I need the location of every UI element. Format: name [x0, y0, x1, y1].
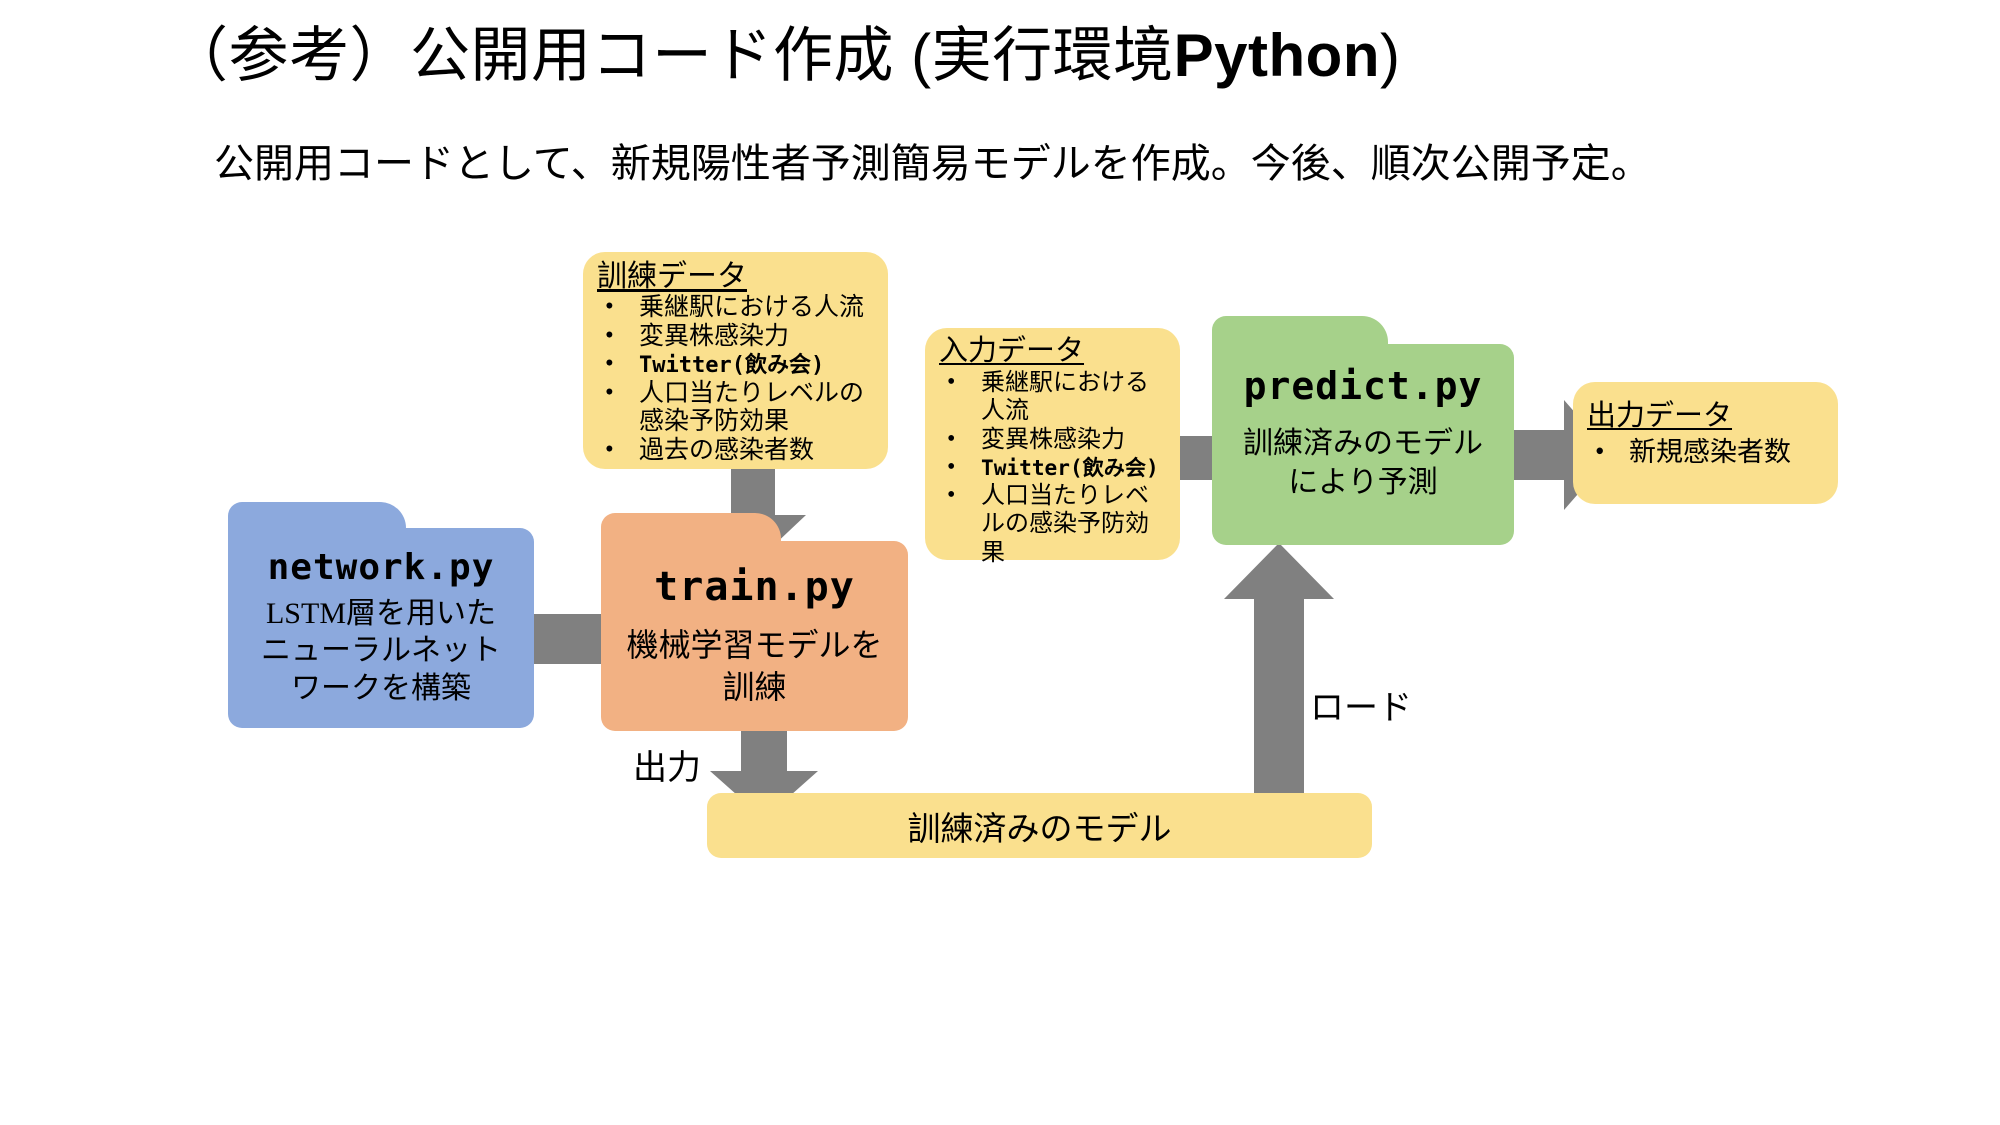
trained-model-bar: 訓練済みのモデル: [707, 793, 1372, 858]
output-data-box: 出力データ 新規感染者数: [1573, 382, 1838, 504]
list-item: 過去の感染者数: [597, 437, 878, 466]
arrow-trained-model-to-predict: [1224, 543, 1334, 801]
slide-canvas: （参考）公開用コード作成 (実行環境Python) 公開用コードとして、新規陽性…: [0, 0, 2000, 1125]
edge-label-output: 出力: [633, 740, 701, 789]
input-data-title: 入力データ: [939, 336, 1170, 368]
page-title-bold: Python: [1174, 22, 1380, 89]
predict-py-description: 訓練済みのモデル により予測: [1212, 424, 1514, 502]
training-data-list: 乗継駅における人流 変異株感染力 Twitter(飲み会) 人口当たりレベルの感…: [597, 294, 878, 465]
list-item: 変異株感染力: [597, 323, 878, 352]
network-py-node: network.py LSTM層を用いた ニューラルネット ワークを構築: [228, 502, 534, 728]
predict-py-content: predict.py 訓練済みのモデル により予測: [1212, 364, 1514, 502]
predict-py-node: predict.py 訓練済みのモデル により予測: [1212, 316, 1514, 545]
edge-label-load: ロード: [1310, 680, 1412, 729]
input-data-list: 乗継駅における人流 変異株感染力 Twitter(飲み会) 人口当たりレベルの感…: [939, 369, 1170, 567]
output-data-title: 出力データ: [1587, 400, 1828, 433]
list-item: 乗継駅における人流: [597, 294, 878, 323]
page-subtitle: 公開用コードとして、新規陽性者予測簡易モデルを作成。今後、順次公開予定。: [214, 140, 1914, 188]
network-py-filename: network.py: [228, 546, 534, 589]
train-py-node: train.py 機械学習モデルを 訓練: [601, 513, 908, 731]
list-item: 変異株感染力: [939, 426, 1170, 454]
page-title-prefix: （参考）公開用コード作成 (実行環境: [168, 22, 1174, 89]
predict-py-filename: predict.py: [1212, 364, 1514, 410]
training-data-title: 訓練データ: [597, 260, 878, 293]
train-py-content: train.py 機械学習モデルを 訓練: [601, 563, 908, 708]
page-title: （参考）公開用コード作成 (実行環境Python): [168, 22, 1868, 89]
input-data-box: 入力データ 乗継駅における人流 変異株感染力 Twitter(飲み会) 人口当た…: [925, 328, 1180, 560]
network-py-description: LSTM層を用いた ニューラルネット ワークを構築: [228, 595, 534, 707]
trained-model-label: 訓練済みのモデル: [908, 802, 1172, 850]
output-data-list: 新規感染者数: [1587, 436, 1828, 468]
train-py-description: 機械学習モデルを 訓練: [601, 625, 908, 708]
list-item: 人口当たりレベルの感染予防効果: [939, 482, 1170, 567]
list-item: Twitter(飲み会): [939, 454, 1170, 482]
list-item: 新規感染者数: [1587, 436, 1828, 468]
list-item: Twitter(飲み会): [597, 351, 878, 380]
list-item-label: Twitter(飲み会): [981, 455, 1159, 480]
network-py-content: network.py LSTM層を用いた ニューラルネット ワークを構築: [228, 546, 534, 707]
list-item: 乗継駅における人流: [939, 369, 1170, 426]
list-item-label: Twitter(飲み会): [639, 353, 824, 378]
page-title-suffix: ): [1380, 22, 1400, 89]
train-py-filename: train.py: [601, 563, 908, 611]
training-data-box: 訓練データ 乗継駅における人流 変異株感染力 Twitter(飲み会) 人口当た…: [583, 252, 888, 469]
list-item: 人口当たりレベルの感染予防効果: [597, 380, 878, 437]
